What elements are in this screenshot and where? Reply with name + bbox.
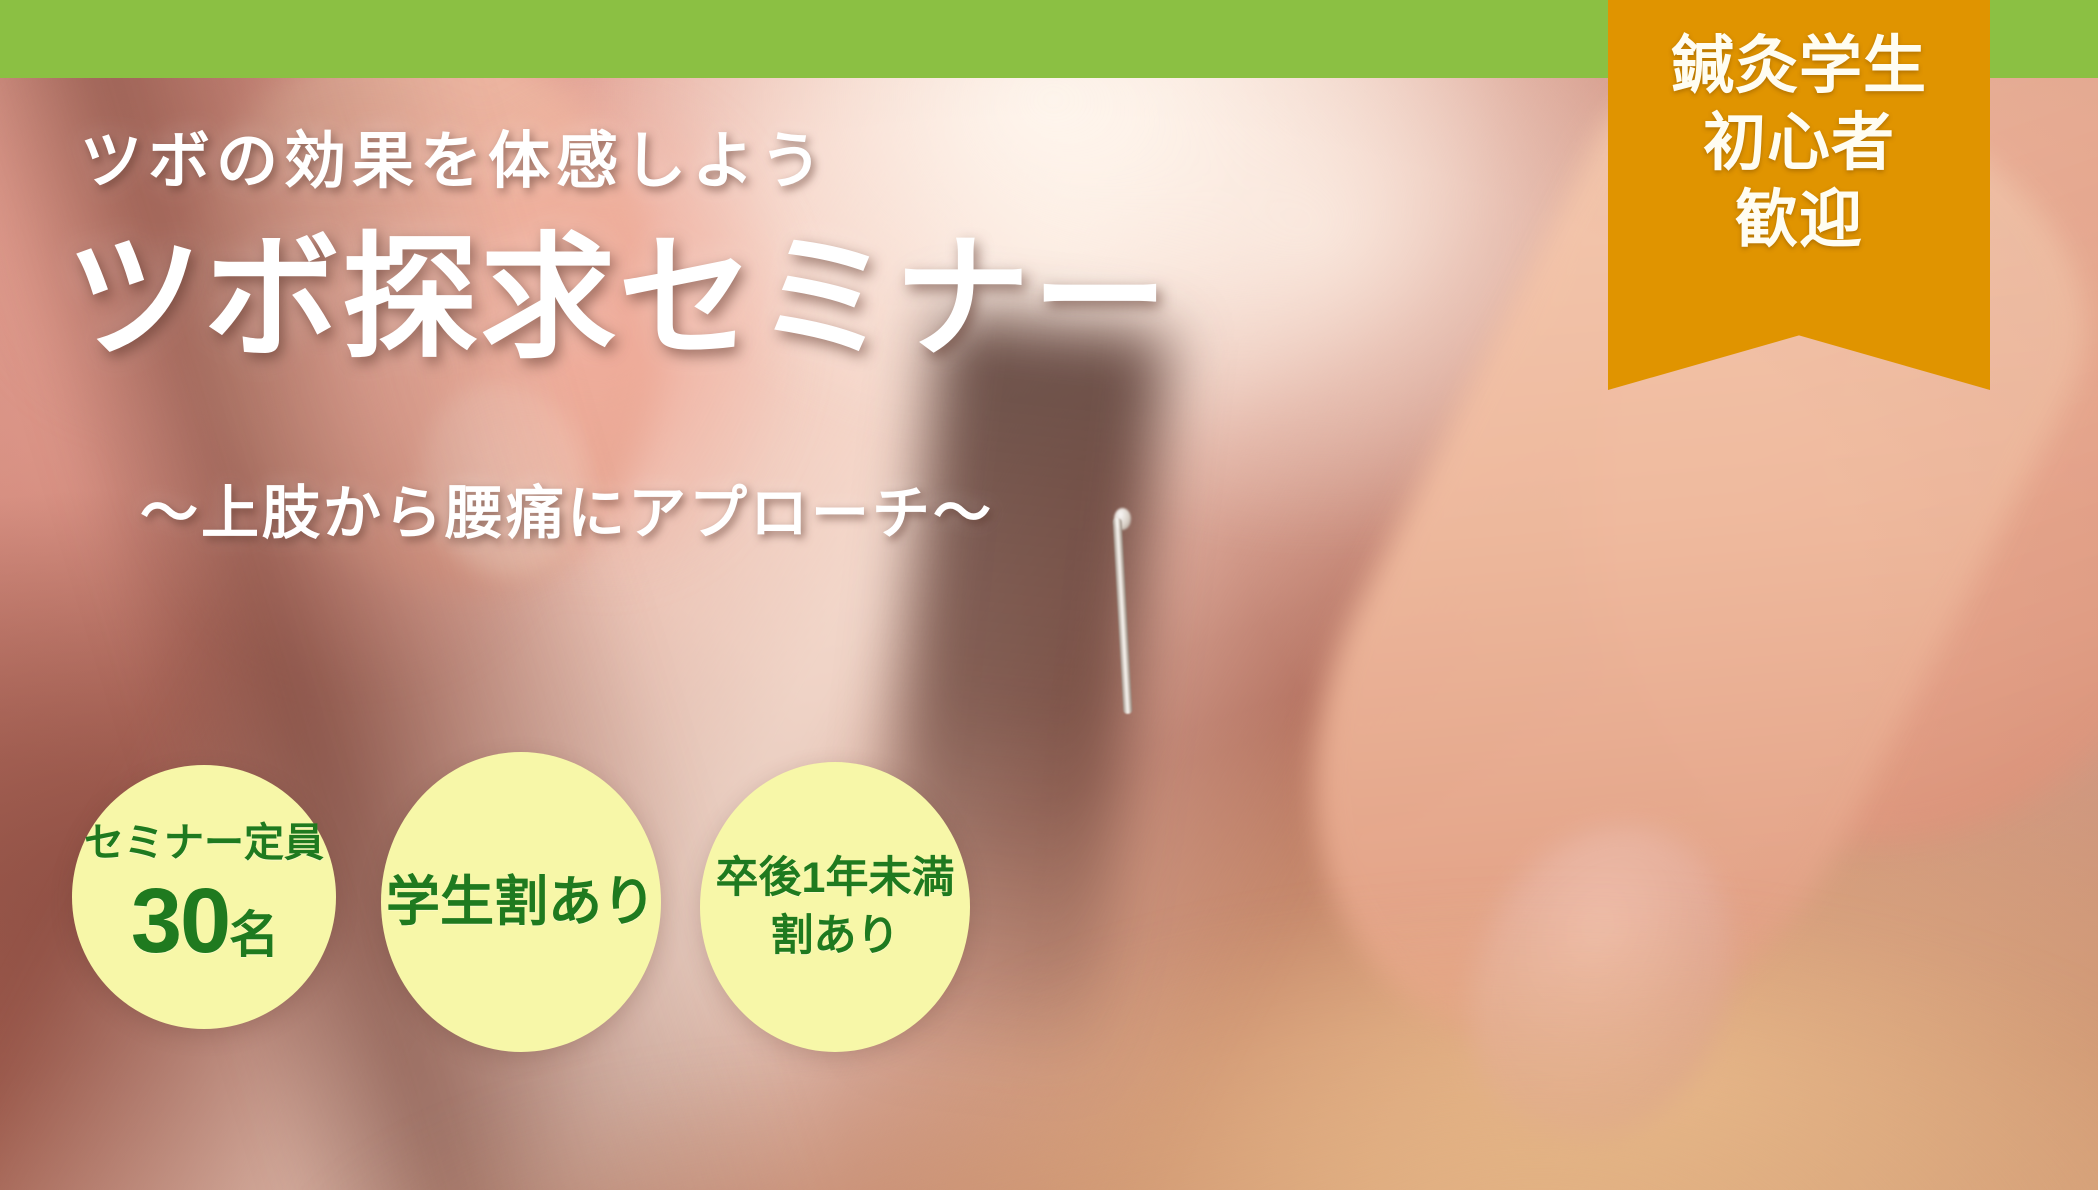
ribbon-line-3: 歓迎 — [1735, 182, 1863, 259]
seminar-banner: 鍼灸学生 初心者 歓迎 ツボの効果を体感しよう ツボ探求セミナー 〜上肢から腰痛… — [0, 0, 2098, 1190]
feature-circle-student-discount: 学生割あり — [381, 752, 661, 1052]
welcome-ribbon-badge: 鍼灸学生 初心者 歓迎 — [1608, 0, 1990, 390]
ribbon-line-2: 初心者 — [1703, 105, 1895, 182]
feature-circle-capacity: セミナー定員 30名 — [72, 765, 336, 1029]
capacity-unit: 名 — [229, 907, 277, 963]
capacity-value: 30名 — [131, 870, 277, 973]
tagline-text: 〜上肢から腰痛にアプローチ〜 — [140, 466, 994, 550]
new-grad-discount-label-2: 割あり — [771, 912, 900, 960]
feature-circle-new-grad-discount: 卒後1年未満 割あり — [700, 762, 970, 1052]
ribbon-line-1: 鍼灸学生 — [1671, 28, 1927, 105]
eyebrow-text: ツボの効果を体感しよう — [80, 110, 828, 200]
new-grad-discount-label-1: 卒後1年未満 — [716, 854, 955, 902]
page-title: ツボ探求セミナー — [66, 188, 1170, 385]
capacity-number: 30 — [131, 870, 229, 972]
capacity-label: セミナー定員 — [84, 821, 324, 866]
student-discount-label: 学生割あり — [386, 872, 656, 932]
